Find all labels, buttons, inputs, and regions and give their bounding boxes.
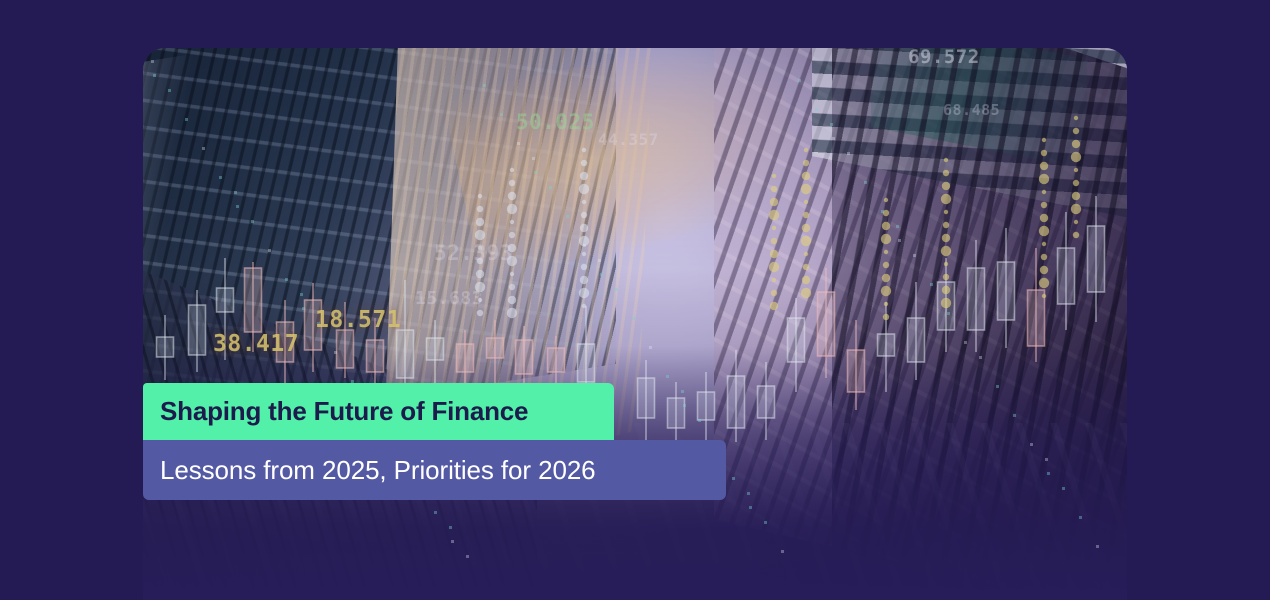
page-title: Shaping the Future of Finance [143, 396, 528, 427]
candlestick [848, 320, 865, 410]
finance-hero-banner: 69.57268.48550.02544.35752.39315.68318.5… [143, 48, 1127, 600]
page-root: 69.57268.48550.02544.35752.39315.68318.5… [0, 0, 1270, 600]
candlestick [908, 282, 925, 380]
dot-column [769, 174, 779, 310]
candlestick [1058, 212, 1075, 330]
candlestick [998, 228, 1015, 348]
candlestick [397, 280, 414, 400]
candlestick [818, 268, 835, 378]
candlestick [728, 350, 745, 442]
subtitle-band: Lessons from 2025, Priorities for 2026 [143, 440, 726, 500]
page-subtitle: Lessons from 2025, Priorities for 2026 [143, 455, 596, 486]
ticker-value: 44.357 [598, 132, 659, 148]
candlestick [189, 290, 206, 372]
candlestick [427, 320, 444, 392]
ticker-value: 38.417 [213, 333, 299, 356]
candlestick [457, 330, 474, 388]
ticker-value: 68.485 [943, 103, 1000, 118]
candlestick [1088, 196, 1105, 322]
dot-column [1071, 116, 1081, 238]
candlestick [1028, 248, 1045, 362]
dot-column [801, 148, 811, 298]
dot-column [881, 198, 891, 320]
title-band: Shaping the Future of Finance [143, 383, 614, 440]
ticker-value: 52.393 [434, 243, 513, 264]
candlestick [157, 315, 174, 380]
ticker-value: 15.683 [415, 290, 483, 308]
dot-column [579, 148, 589, 308]
candlestick [698, 372, 715, 446]
candlestick [968, 240, 985, 352]
candlestick [638, 360, 655, 440]
ticker-value: 50.025 [516, 112, 595, 133]
candlestick [788, 298, 805, 392]
ticker-value: 18.571 [315, 309, 401, 332]
dot-column [1039, 138, 1049, 298]
candlestick [758, 362, 775, 440]
ticker-value: 69.572 [908, 48, 980, 67]
